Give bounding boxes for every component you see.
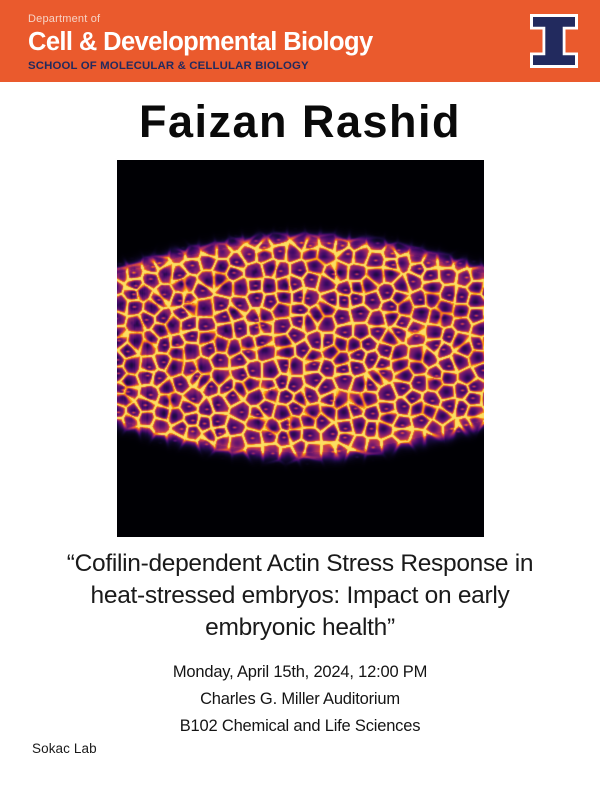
- department-eyebrow-label: Department of: [28, 13, 373, 26]
- talk-title: “Cofilin-dependent Actin Stress Response…: [8, 548, 592, 644]
- talk-title-line-3: embryonic health”: [8, 612, 592, 644]
- event-venue: Charles G. Miller Auditorium: [0, 686, 600, 713]
- department-name-title: Cell & Developmental Biology: [28, 27, 373, 57]
- microscopy-figure-canvas: [117, 160, 484, 537]
- talk-title-line-1: “Cofilin-dependent Actin Stress Response…: [8, 548, 592, 580]
- event-building: B102 Chemical and Life Sciences: [0, 713, 600, 740]
- department-header-banner: Department of Cell & Developmental Biolo…: [0, 0, 600, 82]
- event-datetime: Monday, April 15th, 2024, 12:00 PM: [0, 659, 600, 686]
- illinois-block-i-icon: [522, 9, 586, 73]
- talk-title-line-2: heat-stressed embryos: Impact on early: [8, 580, 592, 612]
- lab-credit-label: Sokac Lab: [32, 741, 97, 756]
- speaker-name-heading: Faizan Rashid: [0, 96, 600, 148]
- school-name-subtitle: SCHOOL OF MOLECULAR & CELLULAR BIOLOGY: [28, 59, 373, 73]
- microscopy-figure: [117, 160, 484, 537]
- event-details-block: Monday, April 15th, 2024, 12:00 PM Charl…: [0, 659, 600, 740]
- header-text-block: Department of Cell & Developmental Biolo…: [28, 13, 373, 73]
